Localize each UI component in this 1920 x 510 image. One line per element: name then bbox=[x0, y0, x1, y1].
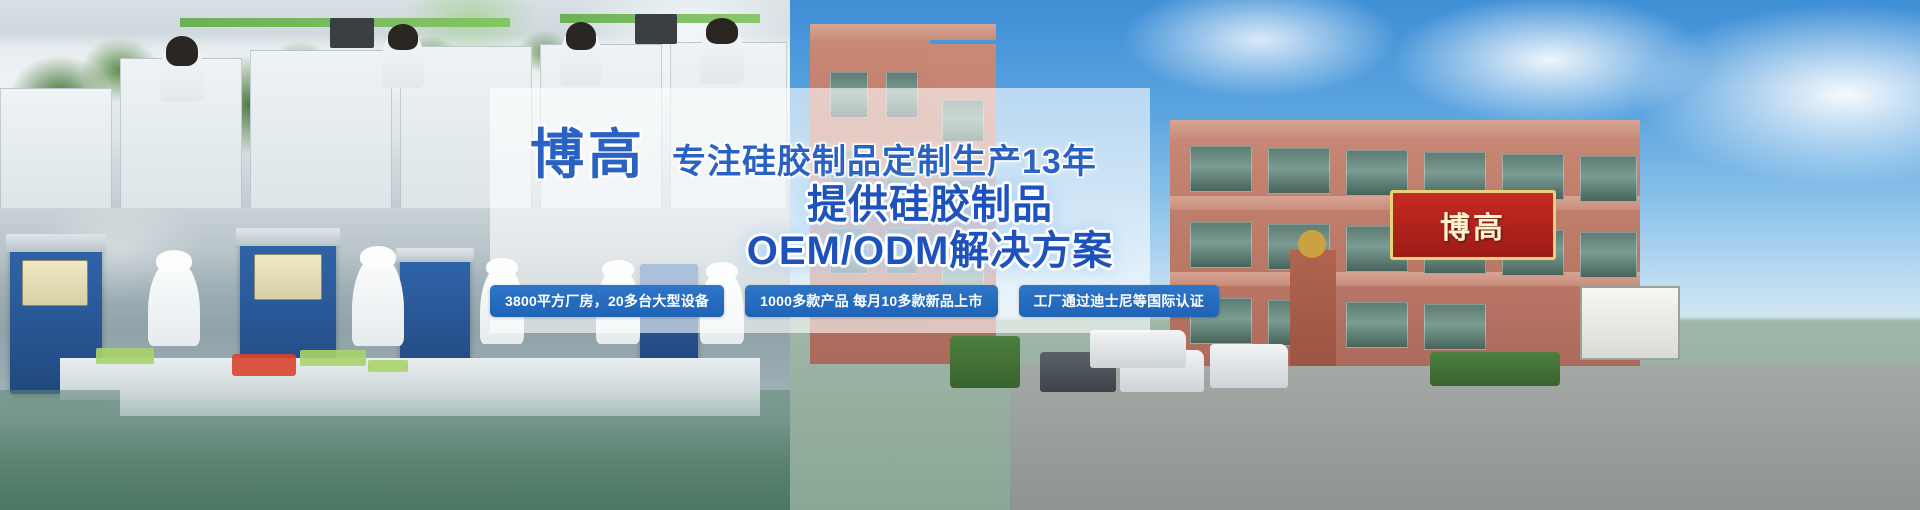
pillar-lamp bbox=[1298, 230, 1326, 258]
promo-banner: 博高 博高 专注硅胶制品定制生产13年 提供硅胶制品 OEM/ODM解决方案 3… bbox=[0, 0, 1920, 510]
feature-badge: 1000多款产品 每月10多款新品上市 bbox=[745, 285, 997, 317]
feature-badge: 工厂通过迪士尼等国际认证 bbox=[1019, 285, 1219, 317]
notice-board bbox=[1580, 286, 1680, 360]
headline-line-3: OEM/ODM解决方案 bbox=[490, 218, 1260, 276]
feature-badge: 3800平方厂房，20多台大型设备 bbox=[490, 285, 724, 317]
feature-badge-list: 3800平方厂房，20多台大型设备 1000多款产品 每月10多款新品上市 工厂… bbox=[490, 284, 1190, 318]
factory-sign-text: 博高 bbox=[1440, 203, 1506, 247]
factory-sign: 博高 bbox=[1390, 190, 1556, 260]
